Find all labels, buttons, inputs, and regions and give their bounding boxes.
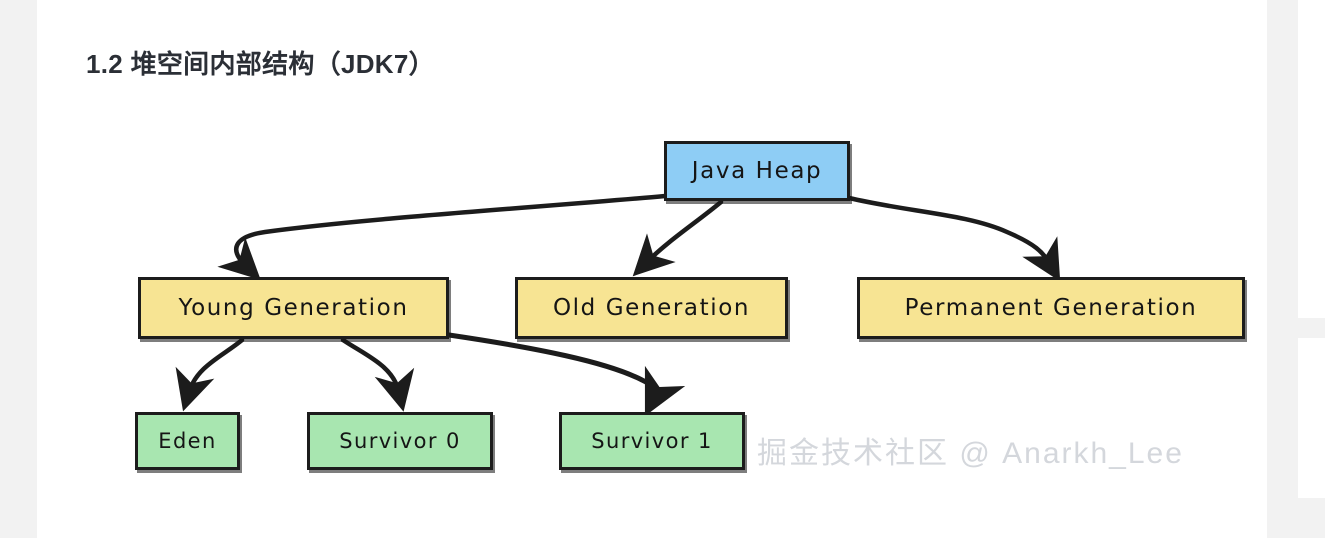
node-young-generation[interactable]: Young Generation [138, 277, 449, 339]
node-permanent-generation-label: Permanent Generation [905, 295, 1198, 321]
heap-structure-diagram: Java Heap Young Generation Old Generatio… [37, 0, 1267, 538]
node-survivor-1[interactable]: Survivor 1 [559, 412, 745, 470]
node-survivor-1-label: Survivor 1 [591, 429, 712, 453]
side-panel-bottom [1298, 338, 1325, 498]
edge-heap-to-permanent [849, 198, 1050, 264]
watermark: 掘金技术社区 @ Anarkh_Lee [757, 428, 1184, 472]
node-old-generation-label: Old Generation [553, 295, 750, 321]
edge-young-to-survivor1 [449, 335, 656, 396]
node-survivor-0[interactable]: Survivor 0 [307, 412, 493, 470]
edge-heap-to-old [647, 202, 721, 262]
node-java-heap[interactable]: Java Heap [664, 141, 850, 201]
node-old-generation[interactable]: Old Generation [515, 277, 788, 339]
node-permanent-generation[interactable]: Permanent Generation [857, 277, 1245, 339]
side-panel-gap [1298, 318, 1325, 338]
page-gutter-left [0, 0, 37, 538]
content-area: 1.2 堆空间内部结构（JDK7） [37, 0, 1267, 538]
node-java-heap-label: Java Heap [692, 158, 822, 184]
node-eden-label: Eden [158, 429, 216, 453]
node-survivor-0-label: Survivor 0 [339, 429, 460, 453]
side-panel-top [1298, 0, 1325, 318]
edge-young-to-survivor0 [343, 340, 399, 392]
edge-heap-to-young [236, 196, 665, 266]
node-young-generation-label: Young Generation [178, 295, 408, 321]
page-root: 1.2 堆空间内部结构（JDK7） [0, 0, 1325, 538]
page-gutter-right [1267, 0, 1298, 538]
side-panel-foot [1298, 498, 1325, 538]
node-eden[interactable]: Eden [135, 412, 240, 470]
edge-young-to-eden [189, 340, 242, 392]
